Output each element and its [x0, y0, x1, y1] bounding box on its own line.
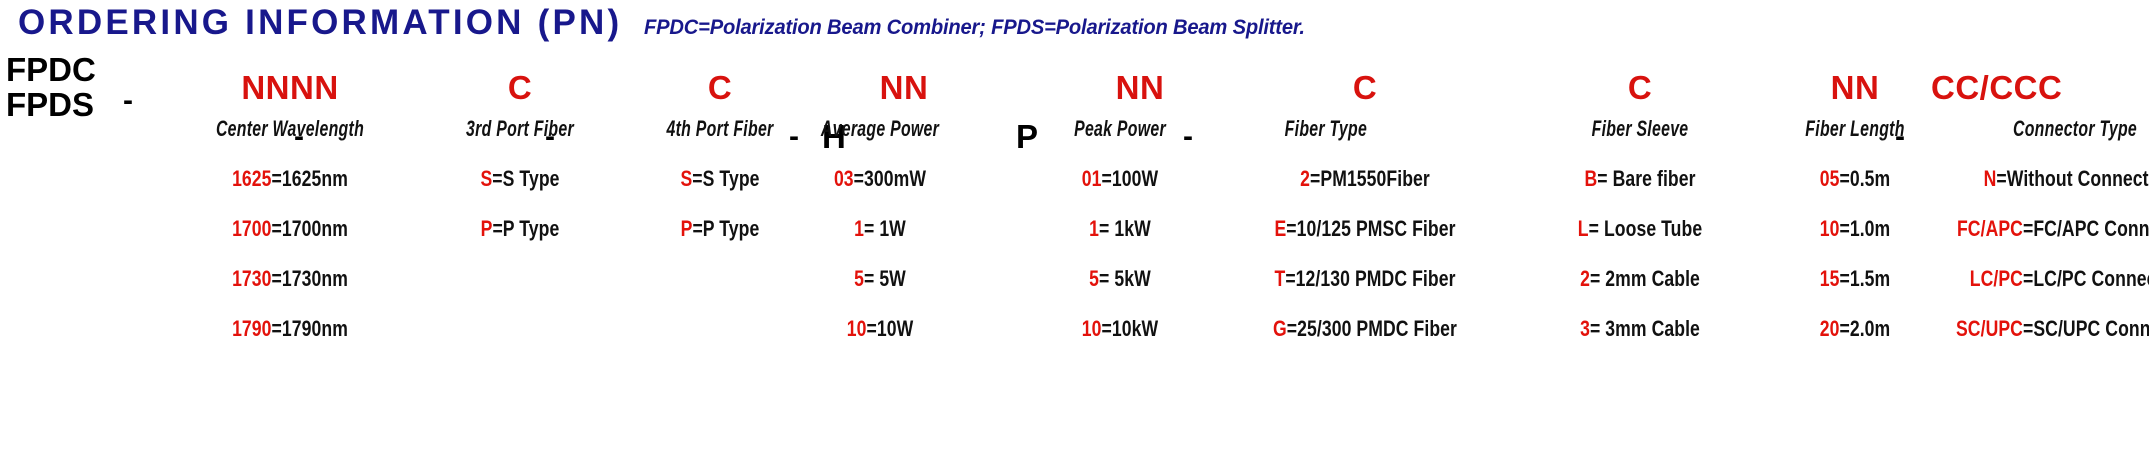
- option-row[interactable]: 5= 5W: [776, 267, 984, 291]
- option-row[interactable]: 20=2.0m: [1763, 317, 1947, 341]
- option-desc: =10W: [866, 316, 913, 341]
- option-code: 10: [847, 316, 867, 341]
- option-row[interactable]: B= Bare fiber: [1540, 167, 1740, 191]
- pn-columns: - - - H P - - NNNN Center Wavelength 162…: [150, 52, 2149, 452]
- option-code: 5: [854, 266, 864, 291]
- option-code: 1790: [232, 316, 271, 341]
- option-desc: =P Type: [492, 216, 559, 241]
- code-3rd-port-fiber: C: [405, 70, 635, 106]
- option-desc: =1.0m: [1839, 216, 1890, 241]
- option-desc: =25/300 PMDC Fiber: [1287, 316, 1457, 341]
- option-code: FC/APC: [1957, 216, 2023, 241]
- option-code: 3: [1580, 316, 1590, 341]
- option-code: P: [681, 216, 693, 241]
- option-code: 10: [1820, 216, 1840, 241]
- option-desc: = 3mm Cable: [1590, 316, 1700, 341]
- option-row[interactable]: G=25/300 PMDC Fiber: [1249, 317, 1481, 341]
- option-row[interactable]: 01=100W: [1028, 167, 1212, 191]
- option-desc: =10/125 PMSC Fiber: [1286, 216, 1455, 241]
- option-desc: =S Type: [492, 166, 559, 191]
- option-code: T: [1274, 266, 1285, 291]
- option-code: P: [481, 216, 493, 241]
- option-code: SC/UPC: [1956, 316, 2023, 341]
- option-row[interactable]: 2=PM1550Fiber: [1249, 167, 1481, 191]
- option-row[interactable]: 2= 2mm Cable: [1540, 267, 1740, 291]
- option-desc: = Loose Tube: [1589, 216, 1703, 241]
- option-code: LC/PC: [1970, 266, 2023, 291]
- title-legend-note: FPDC=Polarization Beam Combiner; FPDS=Po…: [644, 5, 1305, 51]
- option-desc: =P Type: [692, 216, 759, 241]
- option-desc: = 2mm Cable: [1590, 266, 1700, 291]
- option-code: S: [480, 166, 492, 191]
- option-desc: =10kW: [1102, 316, 1159, 341]
- option-desc: =2.0m: [1839, 316, 1890, 341]
- option-row[interactable]: T=12/130 PMDC Fiber: [1249, 267, 1481, 291]
- header-fiber-sleeve: Fiber Sleeve: [1550, 116, 1730, 142]
- ordering-information-panel: ORDERING INFORMATION (PN) FPDC=Polarizat…: [0, 0, 2149, 463]
- header-connector-type: Connector Type: [1967, 116, 2149, 142]
- option-desc: =Without Connector: [1996, 166, 2149, 191]
- option-desc: = 5W: [864, 266, 906, 291]
- option-code: 5: [1089, 266, 1099, 291]
- code-connector-type: CC/CCC: [1925, 70, 2149, 106]
- option-row[interactable]: 3= 3mm Cable: [1540, 317, 1740, 341]
- option-code: 2: [1580, 266, 1590, 291]
- header-fiber-type: Fiber Type: [1265, 116, 1494, 142]
- option-row[interactable]: 10=10kW: [1028, 317, 1212, 341]
- option-desc: =1625nm: [272, 166, 348, 191]
- option-row[interactable]: 05=0.5m: [1763, 167, 1947, 191]
- option-row[interactable]: 10=10W: [776, 317, 984, 341]
- option-row[interactable]: E=10/125 PMSC Fiber: [1249, 217, 1481, 241]
- option-row[interactable]: 1= 1kW: [1028, 217, 1212, 241]
- option-row[interactable]: 1700=1700nm: [194, 217, 386, 241]
- option-row[interactable]: 10=1.0m: [1763, 217, 1947, 241]
- option-code: 03: [834, 166, 854, 191]
- option-code: B: [1584, 166, 1597, 191]
- option-row[interactable]: 1790=1790nm: [194, 317, 386, 341]
- option-desc: =12/130 PMDC Fiber: [1285, 266, 1455, 291]
- option-row[interactable]: 1= 1W: [776, 217, 984, 241]
- option-code: 10: [1082, 316, 1102, 341]
- option-desc: =1730nm: [272, 266, 348, 291]
- option-code: 05: [1820, 166, 1840, 191]
- option-code: L: [1578, 216, 1589, 241]
- option-code: 15: [1820, 266, 1840, 291]
- option-row[interactable]: 03=300mW: [776, 167, 984, 191]
- option-code: G: [1273, 316, 1287, 341]
- code-center-wavelength: NNNN: [170, 70, 410, 106]
- literal-p: P: [1016, 122, 1038, 152]
- option-row[interactable]: 15=1.5m: [1763, 267, 1947, 291]
- option-code: 1700: [232, 216, 271, 241]
- option-row[interactable]: FC/APC=FC/APC Connector: [1955, 217, 2149, 241]
- option-code: 20: [1820, 316, 1840, 341]
- option-row[interactable]: LC/PC=LC/PC Connector: [1955, 267, 2149, 291]
- option-row[interactable]: S=S Type: [428, 167, 612, 191]
- option-desc: =LC/PC Connector: [2023, 266, 2149, 291]
- option-code: 1730: [232, 266, 271, 291]
- option-desc: =300mW: [854, 166, 926, 191]
- prefix-separator-dash: -: [123, 86, 133, 116]
- option-desc: = 5kW: [1099, 266, 1151, 291]
- title-band: ORDERING INFORMATION (PN) FPDC=Polarizat…: [0, 0, 2149, 46]
- option-row[interactable]: SC/UPC=SC/UPC Connector: [1955, 317, 2149, 341]
- option-code: 2: [1300, 166, 1310, 191]
- option-desc: =1790nm: [272, 316, 348, 341]
- option-desc: =PM1550Fiber: [1310, 166, 1430, 191]
- option-desc: =1.5m: [1839, 266, 1890, 291]
- option-desc: = 1W: [864, 216, 906, 241]
- option-desc: =SC/UPC Connector: [2023, 316, 2149, 341]
- option-desc: =1700nm: [272, 216, 348, 241]
- header-3rd-port-fiber: 3rd Port Fiber: [437, 116, 603, 142]
- option-desc: =FC/APC Connector: [2023, 216, 2149, 241]
- code-peak-power: NN: [1045, 70, 1235, 106]
- code-fiber-type: C: [1220, 70, 1510, 106]
- header-fiber-length: Fiber Length: [1772, 116, 1938, 142]
- option-desc: =S Type: [692, 166, 759, 191]
- option-code: E: [1274, 216, 1286, 241]
- option-row[interactable]: 1730=1730nm: [194, 267, 386, 291]
- option-code: 1: [1089, 216, 1099, 241]
- code-average-power: NN: [798, 70, 1010, 106]
- option-desc: =0.5m: [1839, 166, 1890, 191]
- option-code: 1625: [232, 166, 271, 191]
- option-row[interactable]: N=Without Connector: [1955, 167, 2149, 191]
- option-code: N: [1984, 166, 1997, 191]
- option-row[interactable]: 5= 5kW: [1028, 267, 1212, 291]
- header-average-power: Average Power: [786, 116, 973, 142]
- prefix-fpdc: FPDC: [6, 52, 156, 87]
- option-desc: = 1kW: [1099, 216, 1151, 241]
- code-fiber-sleeve: C: [1515, 70, 1765, 106]
- option-desc: =100W: [1102, 166, 1159, 191]
- option-code: 01: [1082, 166, 1102, 191]
- product-prefix-block: FPDC FPDS: [6, 52, 156, 122]
- option-code: S: [680, 166, 692, 191]
- page-title: ORDERING INFORMATION (PN): [18, 0, 622, 46]
- prefix-fpds: FPDS: [6, 87, 156, 122]
- header-center-wavelength: Center Wavelength: [204, 116, 377, 142]
- option-code: 1: [854, 216, 864, 241]
- option-row[interactable]: L= Loose Tube: [1540, 217, 1740, 241]
- option-row[interactable]: 1625=1625nm: [194, 167, 386, 191]
- option-desc: = Bare fiber: [1597, 166, 1695, 191]
- option-row[interactable]: P=P Type: [428, 217, 612, 241]
- header-peak-power: Peak Power: [1037, 116, 1203, 142]
- header-4th-port-fiber: 4th Port Fiber: [637, 116, 803, 142]
